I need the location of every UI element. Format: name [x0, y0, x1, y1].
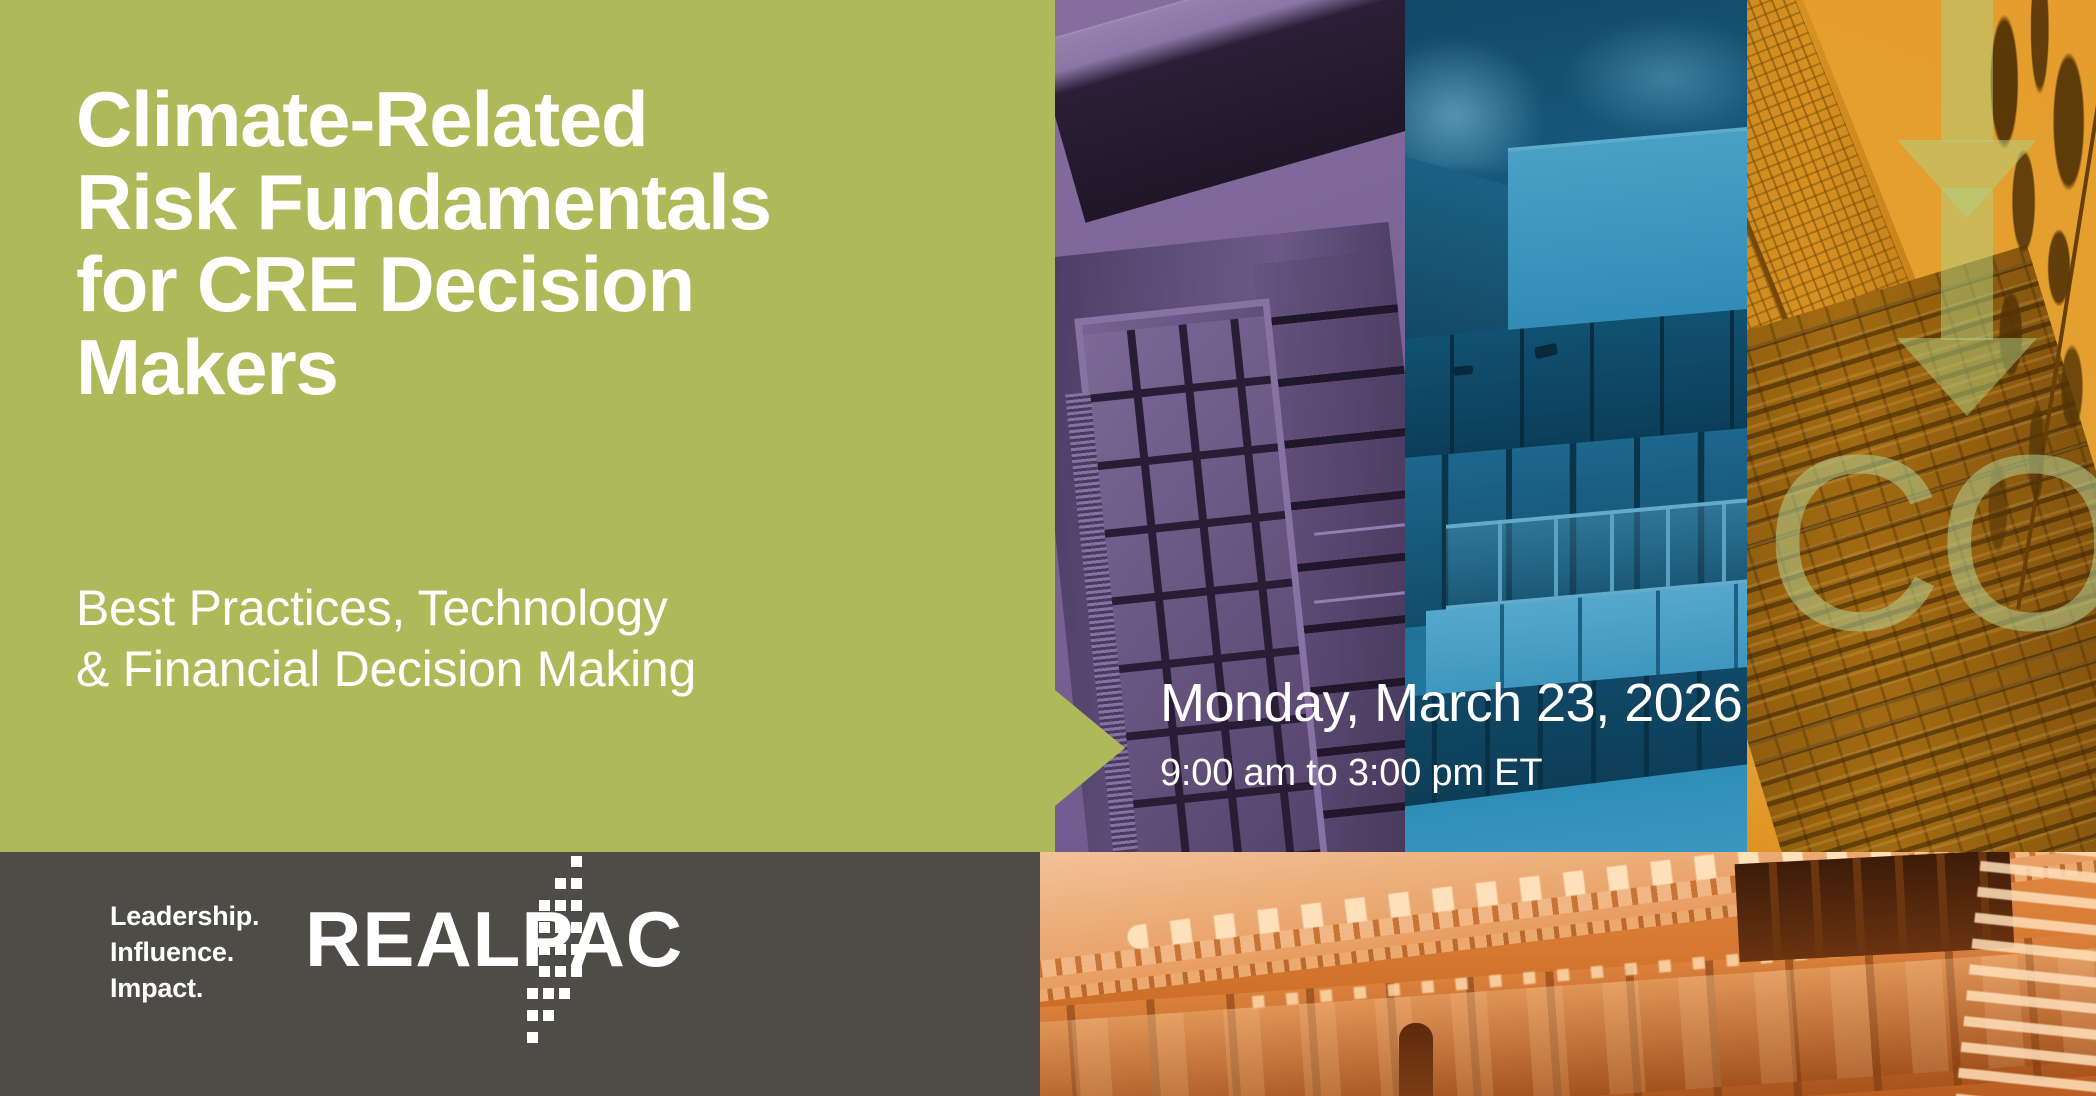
brand-tagline: Leadership. Influence. Impact. [110, 899, 259, 1007]
event-time: 9:00 am to 3:00 pm ET [1160, 752, 1542, 795]
co2-text: CO [1763, 403, 2096, 682]
down-arrow-icon-secondary [1897, 188, 2037, 418]
right-light-column [1956, 852, 2096, 1096]
event-date: Monday, March 23, 2026 [1160, 672, 1742, 734]
realpac-wordmark: REALPAC [305, 900, 683, 978]
logo-dot-matrix-icon [527, 856, 593, 1034]
footer-bar: Leadership. Influence. Impact. REALPAC [0, 852, 1040, 1096]
down-arrow-icon [1897, 0, 2037, 220]
shopper-silhouette [1399, 1023, 1433, 1096]
photo-glass-tower: CO2 [1747, 0, 2096, 852]
page-subtitle: Best Practices, Technology & Financial D… [76, 578, 1016, 700]
page-title: Climate-Related Risk Fundamentals for CR… [76, 78, 1016, 409]
event-promo-banner: CO2 Climate-Related Risk Fundamentals fo… [0, 0, 2096, 1096]
logo-text-left: REAL [305, 895, 521, 983]
realpac-logo: REALPAC [305, 900, 683, 986]
photo-retail-arcade [1040, 852, 2096, 1096]
co2-overlay-label: CO2 [1763, 430, 2096, 655]
